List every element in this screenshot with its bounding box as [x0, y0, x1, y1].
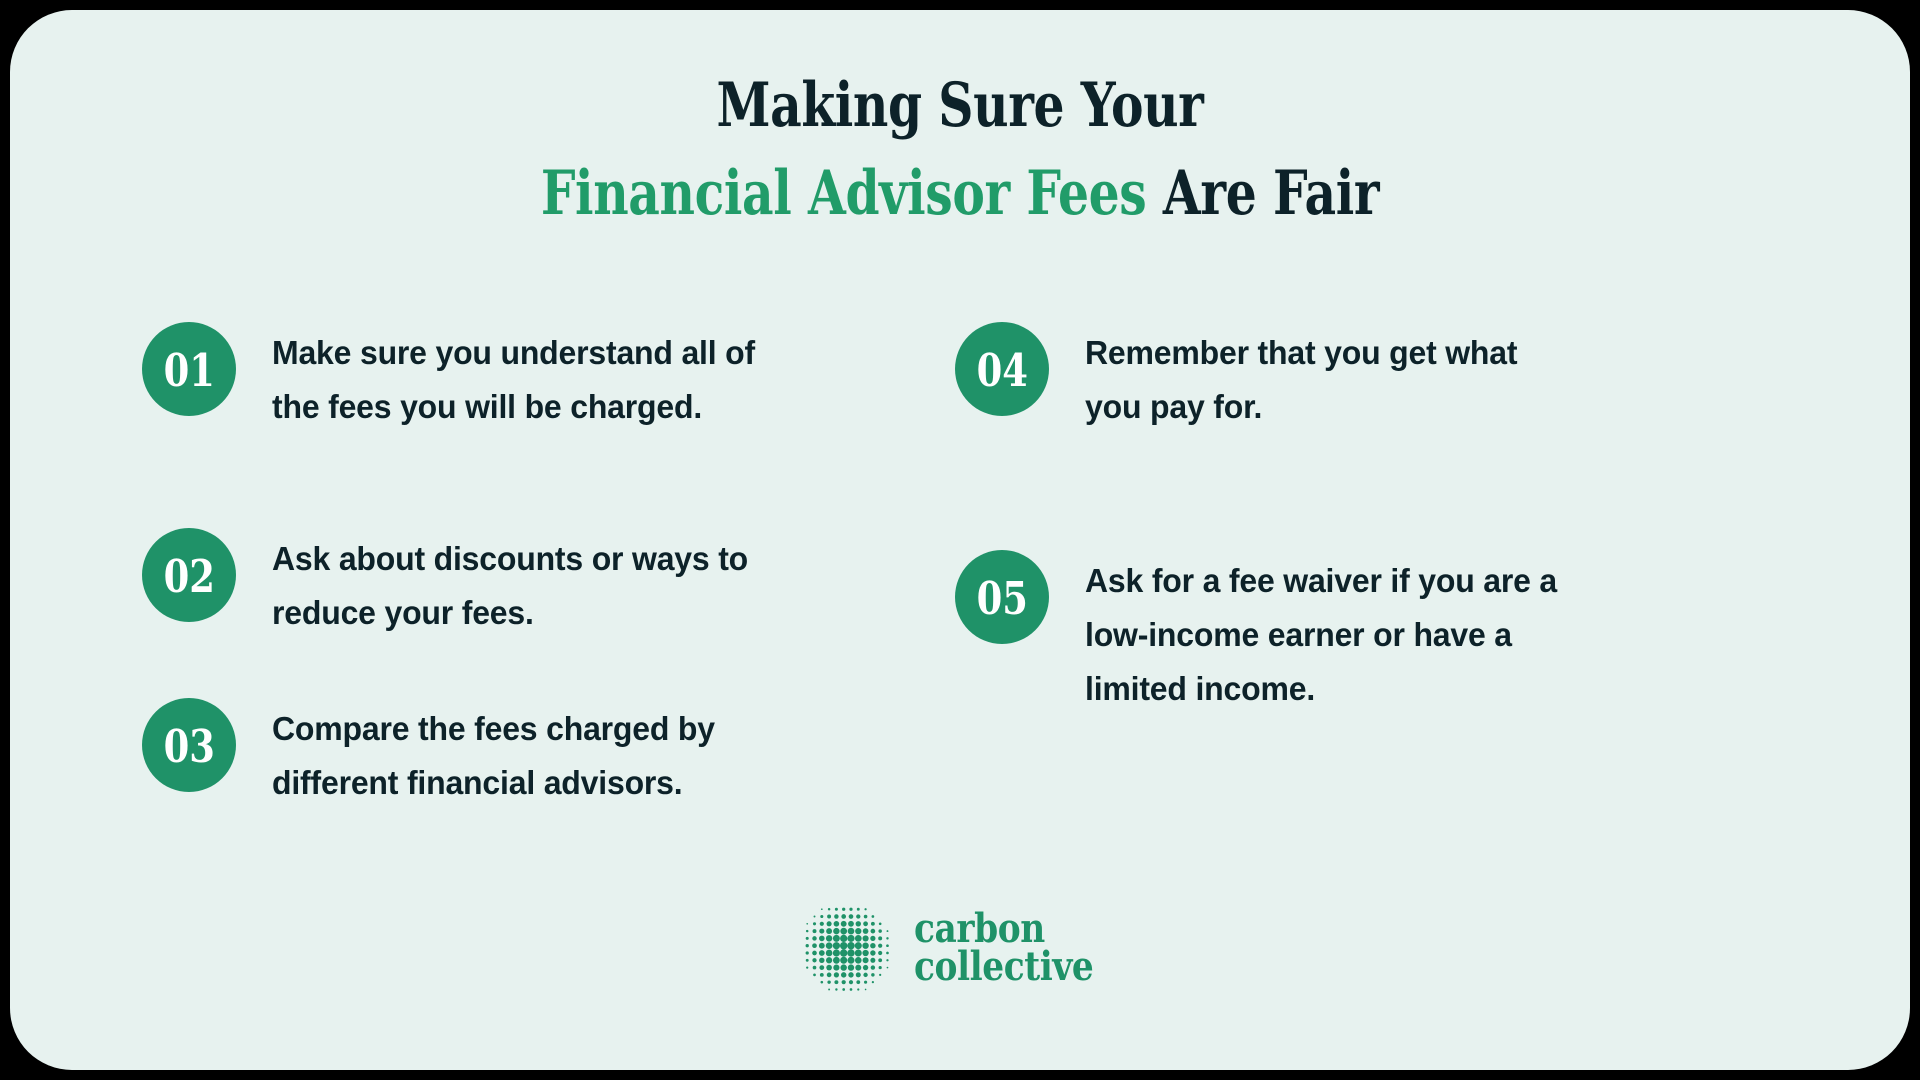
step-text: Make sure you understand all of the fees… — [272, 322, 759, 435]
step-number: 04 — [976, 348, 1027, 393]
step-text: Compare the fees charged by different fi… — [272, 698, 759, 811]
step-badge: 03 — [142, 698, 236, 792]
list-item: 05 Ask for a fee waiver if you are a low… — [955, 550, 1595, 717]
step-badge: 01 — [142, 322, 236, 416]
list-item: 04 Remember that you get what you pay fo… — [955, 322, 1595, 435]
step-badge: 04 — [955, 322, 1049, 416]
step-text: Remember that you get what you pay for. — [1085, 322, 1572, 435]
halftone-dot-circle-icon — [798, 900, 894, 996]
list-item: 01 Make sure you understand all of the f… — [142, 322, 782, 435]
step-text: Ask about discounts or ways to reduce yo… — [272, 528, 759, 641]
brand-logo: carbon collective — [10, 900, 1910, 996]
infographic-card: Making Sure Your Financial Advisor Fees … — [10, 10, 1910, 1070]
list-item: 02 Ask about discounts or ways to reduce… — [142, 528, 782, 641]
step-text: Ask for a fee waiver if you are a low-in… — [1085, 550, 1572, 717]
brand-word-2: collective — [914, 948, 1093, 986]
step-number: 03 — [163, 724, 214, 769]
step-number: 02 — [163, 554, 214, 599]
step-badge: 02 — [142, 528, 236, 622]
brand-wordmark: carbon collective — [914, 910, 1093, 986]
list-item: 03 Compare the fees charged by different… — [142, 698, 782, 811]
step-number: 01 — [163, 348, 214, 393]
infographic-canvas: Making Sure Your Financial Advisor Fees … — [0, 0, 1920, 1080]
step-badge: 05 — [955, 550, 1049, 644]
step-number: 05 — [976, 576, 1027, 621]
